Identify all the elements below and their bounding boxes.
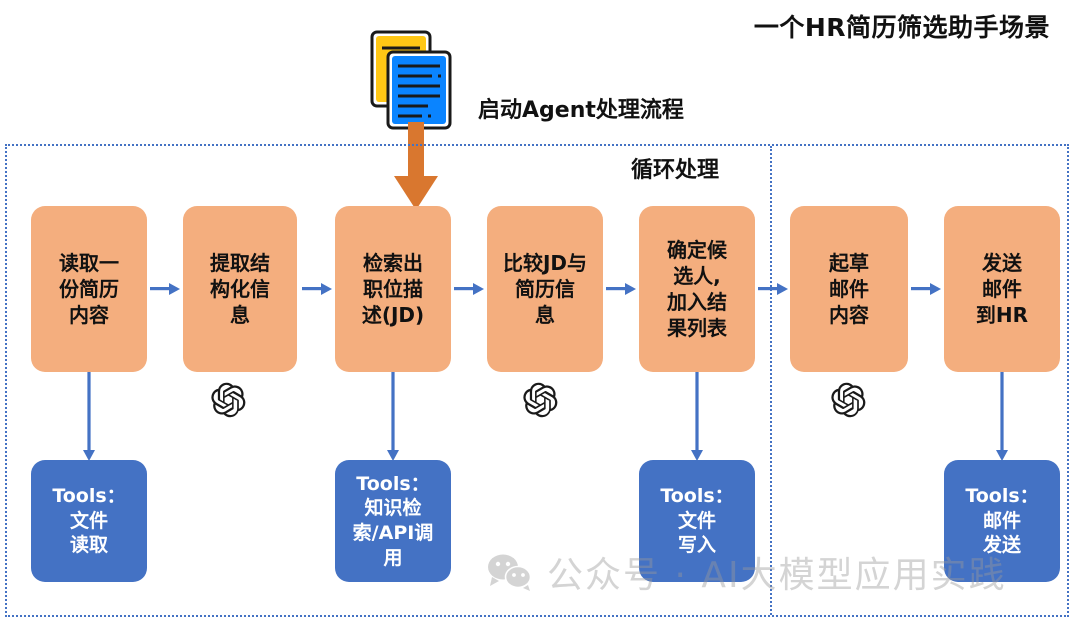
flow-arrow-icon xyxy=(911,282,941,296)
tool-link-arrow-icon xyxy=(690,372,704,462)
step-label: 检索出 职位描 述(JD) xyxy=(362,250,424,328)
step-box-compare-jd[interactable]: 比较JD与 简历信 息 xyxy=(487,206,603,372)
tool-label: Tools： 文件 读取 xyxy=(52,484,125,558)
flow-arrow-icon xyxy=(150,282,180,296)
step-box-read-resume[interactable]: 读取一 份简历 内容 xyxy=(31,206,147,372)
step-box-extract-info[interactable]: 提取结 构化信 息 xyxy=(183,206,297,372)
tool-link-arrow-icon xyxy=(82,372,96,462)
page-title: 一个HR简历筛选助手场景 xyxy=(754,8,1050,44)
step-label: 确定候 选人, 加入结 果列表 xyxy=(667,237,727,341)
loop-divider xyxy=(770,146,772,615)
flow-arrow-icon xyxy=(454,282,484,296)
tool-box-kb-api[interactable]: Tools： 知识检 索/API调 用 xyxy=(335,460,451,582)
flow-arrow-icon xyxy=(606,282,636,296)
step-box-send-email[interactable]: 发送 邮件 到HR xyxy=(944,206,1060,372)
tool-label: Tools： 文件 写入 xyxy=(660,484,733,558)
tool-label: Tools： 知识检 索/API调 用 xyxy=(353,472,434,571)
step-label: 起草 邮件 内容 xyxy=(829,250,869,328)
flow-arrow-icon xyxy=(302,282,332,296)
step-label: 比较JD与 简历信 息 xyxy=(503,250,587,328)
step-box-select-candidate[interactable]: 确定候 选人, 加入结 果列表 xyxy=(639,206,755,372)
step-box-draft-email[interactable]: 起草 邮件 内容 xyxy=(790,206,908,372)
openai-llm-icon xyxy=(521,381,559,419)
tool-box-file-write[interactable]: Tools： 文件 写入 xyxy=(639,460,755,582)
tool-label: Tools： 邮件 发送 xyxy=(965,484,1038,558)
step-label: 发送 邮件 到HR xyxy=(976,250,1028,328)
tool-box-email-send[interactable]: Tools： 邮件 发送 xyxy=(944,460,1060,582)
loop-label: 循环处理 xyxy=(631,152,719,184)
step-box-retrieve-jd[interactable]: 检索出 职位描 述(JD) xyxy=(335,206,451,372)
step-label: 提取结 构化信 息 xyxy=(210,250,270,328)
tool-link-arrow-icon xyxy=(995,372,1009,462)
flow-arrow-icon xyxy=(758,282,788,296)
documents-icon xyxy=(360,26,468,134)
openai-llm-icon xyxy=(829,381,867,419)
tool-box-file-read[interactable]: Tools： 文件 读取 xyxy=(31,460,147,582)
start-label: 启动Agent处理流程 xyxy=(478,92,684,124)
tool-link-arrow-icon xyxy=(386,372,400,462)
openai-llm-icon xyxy=(209,381,247,419)
step-label: 读取一 份简历 内容 xyxy=(59,250,119,328)
